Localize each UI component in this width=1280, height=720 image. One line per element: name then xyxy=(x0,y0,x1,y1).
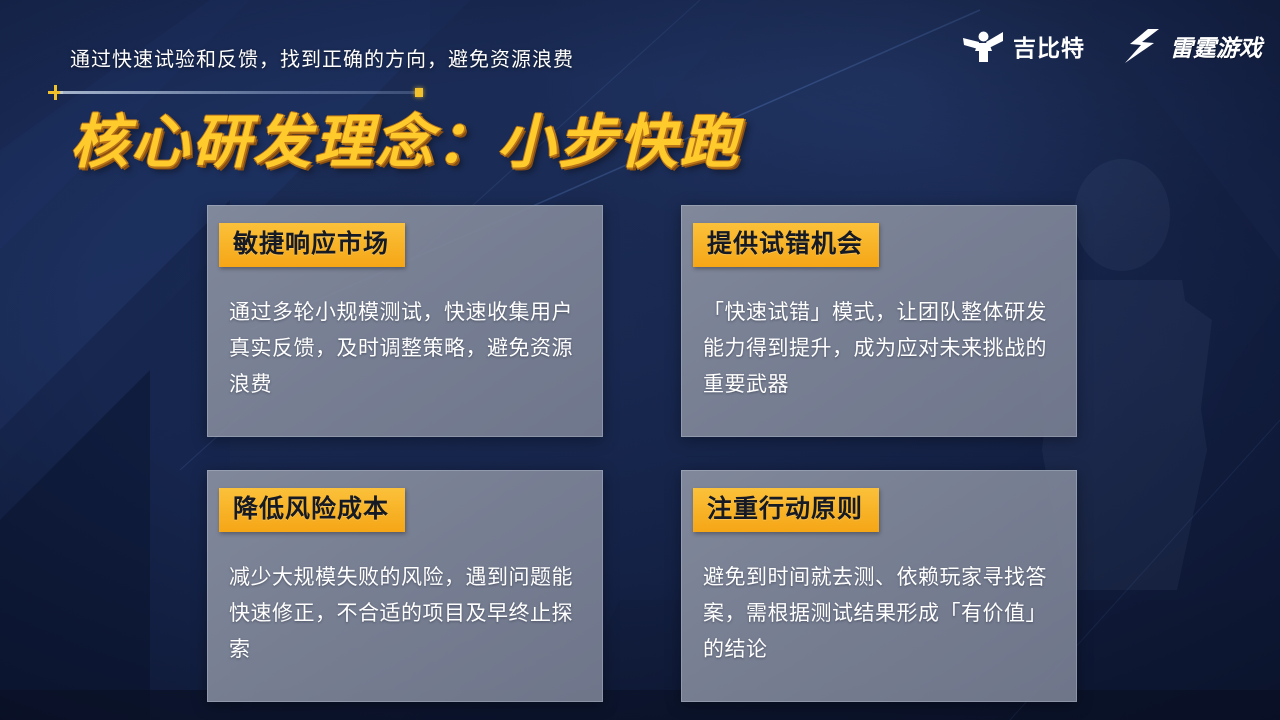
card-body: 减少大规模失败的风险，遇到问题能快速修正，不合适的项目及早终止探索 xyxy=(229,560,583,668)
lightning-bolt-icon xyxy=(1121,28,1161,69)
logo-gbits-label: 吉比特 xyxy=(1013,37,1085,60)
brand-logos: 吉比特 雷霆游戏 xyxy=(962,28,1262,69)
header-block: 通过快速试验和反馈，找到正确的方向，避免资源浪费 核心研发理念：小步快跑 xyxy=(48,48,741,174)
card-agile-market-response[interactable]: 敏捷响应市场 通过多轮小规模测试，快速收集用户真实反馈，及时调整策略，避免资源浪… xyxy=(207,205,603,437)
logo-leiting-label: 雷霆游戏 xyxy=(1170,37,1262,60)
card-badge: 注重行动原则 xyxy=(693,488,879,532)
gbits-angel-icon xyxy=(962,29,1004,68)
logo-leiting: 雷霆游戏 xyxy=(1121,28,1262,69)
logo-gbits: 吉比特 xyxy=(962,29,1085,68)
card-badge: 降低风险成本 xyxy=(219,488,405,532)
card-body: 通过多轮小规模测试，快速收集用户真实反馈，及时调整策略，避免资源浪费 xyxy=(229,295,583,403)
card-body: 「快速试错」模式，让团队整体研发能力得到提升，成为应对未来挑战的重要武器 xyxy=(703,295,1057,403)
card-action-principles[interactable]: 注重行动原则 避免到时间就去测、依赖玩家寻找答案，需根据测试结果形成「有价值」的… xyxy=(681,470,1077,702)
page-title: 核心研发理念：小步快跑 xyxy=(70,113,741,174)
card-grid: 敏捷响应市场 通过多轮小规模测试，快速收集用户真实反馈，及时调整策略，避免资源浪… xyxy=(207,205,1075,702)
card-reduce-risk-cost[interactable]: 降低风险成本 减少大规模失败的风险，遇到问题能快速修正，不合适的项目及早终止探索 xyxy=(207,470,603,702)
card-badge: 提供试错机会 xyxy=(693,223,879,267)
card-badge: 敏捷响应市场 xyxy=(219,223,405,267)
title-divider xyxy=(48,85,420,99)
card-body: 避免到时间就去测、依赖玩家寻找答案，需根据测试结果形成「有价值」的结论 xyxy=(703,560,1057,668)
card-trial-and-error-opportunity[interactable]: 提供试错机会 「快速试错」模式，让团队整体研发能力得到提升，成为应对未来挑战的重… xyxy=(681,205,1077,437)
divider-rule xyxy=(60,91,420,94)
divider-endcap-icon xyxy=(415,88,423,97)
slide-subtitle: 通过快速试验和反馈，找到正确的方向，避免资源浪费 xyxy=(70,48,741,72)
slide-root: 吉比特 雷霆游戏 通过快速试验和反馈，找到正确的方向，避免资源浪费 核心研发理念… xyxy=(0,0,1280,720)
